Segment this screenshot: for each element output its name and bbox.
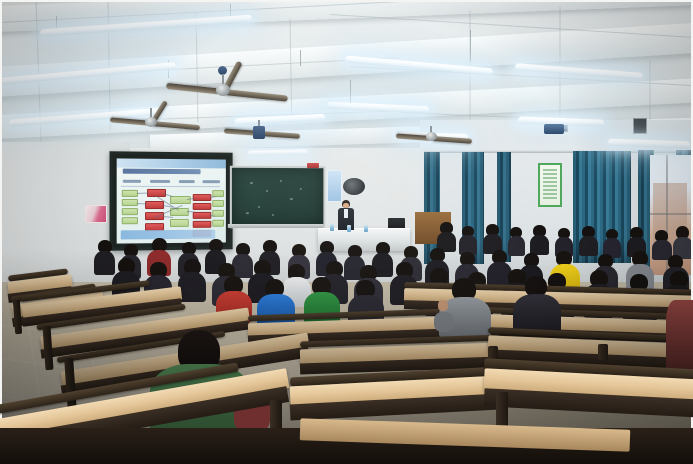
desk-rail-post — [598, 344, 608, 360]
chalk-tray — [228, 224, 323, 228]
projected-slide — [117, 158, 226, 243]
window-mullion — [650, 213, 693, 215]
wall-speaker-icon — [633, 118, 647, 134]
water-bottle — [347, 225, 351, 232]
ceiling-fan — [426, 132, 437, 141]
green-notice-board — [538, 163, 562, 207]
projection-screen[interactable] — [110, 151, 233, 251]
red-label-strip — [307, 163, 319, 168]
pink-poster — [85, 205, 107, 223]
water-bottle — [330, 224, 334, 231]
lecture-hall-photograph: Lecture hall presentation Students seate… — [0, 0, 693, 464]
slide-footer-band — [121, 230, 215, 240]
slide-header-band — [117, 158, 226, 168]
blackboard — [230, 166, 325, 229]
presenter — [338, 200, 354, 230]
ceiling-fan — [145, 117, 157, 127]
water-bottle — [364, 225, 368, 232]
blue-notice-poster — [327, 170, 342, 202]
slide-title — [123, 169, 201, 175]
wall-mounted-fan — [343, 178, 365, 195]
ceiling-fan — [216, 84, 230, 96]
student-hand — [438, 300, 448, 311]
projector-mount — [253, 126, 265, 139]
ceiling-projector — [544, 124, 564, 134]
